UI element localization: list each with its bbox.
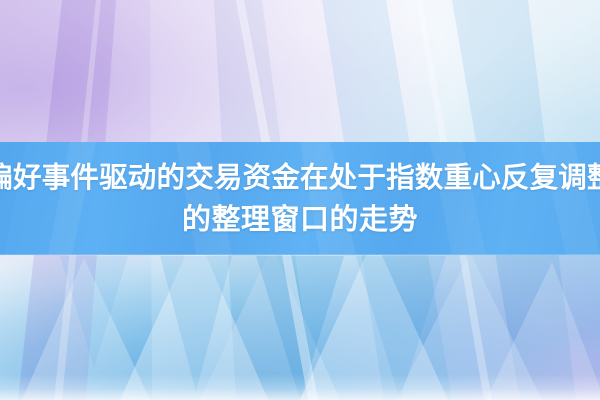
headline-line-1: 偏好事件驱动的交易资金在处于指数重心反复调整 (0, 158, 600, 198)
headline-block: 偏好事件驱动的交易资金在处于指数重心反复调整 的整理窗口的走势 (0, 142, 600, 255)
banner-canvas: 偏好事件驱动的交易资金在处于指数重心反复调整 的整理窗口的走势 (0, 0, 600, 400)
bottom-haze (0, 374, 600, 400)
headline-line-2: 的整理窗口的走势 (182, 200, 418, 240)
